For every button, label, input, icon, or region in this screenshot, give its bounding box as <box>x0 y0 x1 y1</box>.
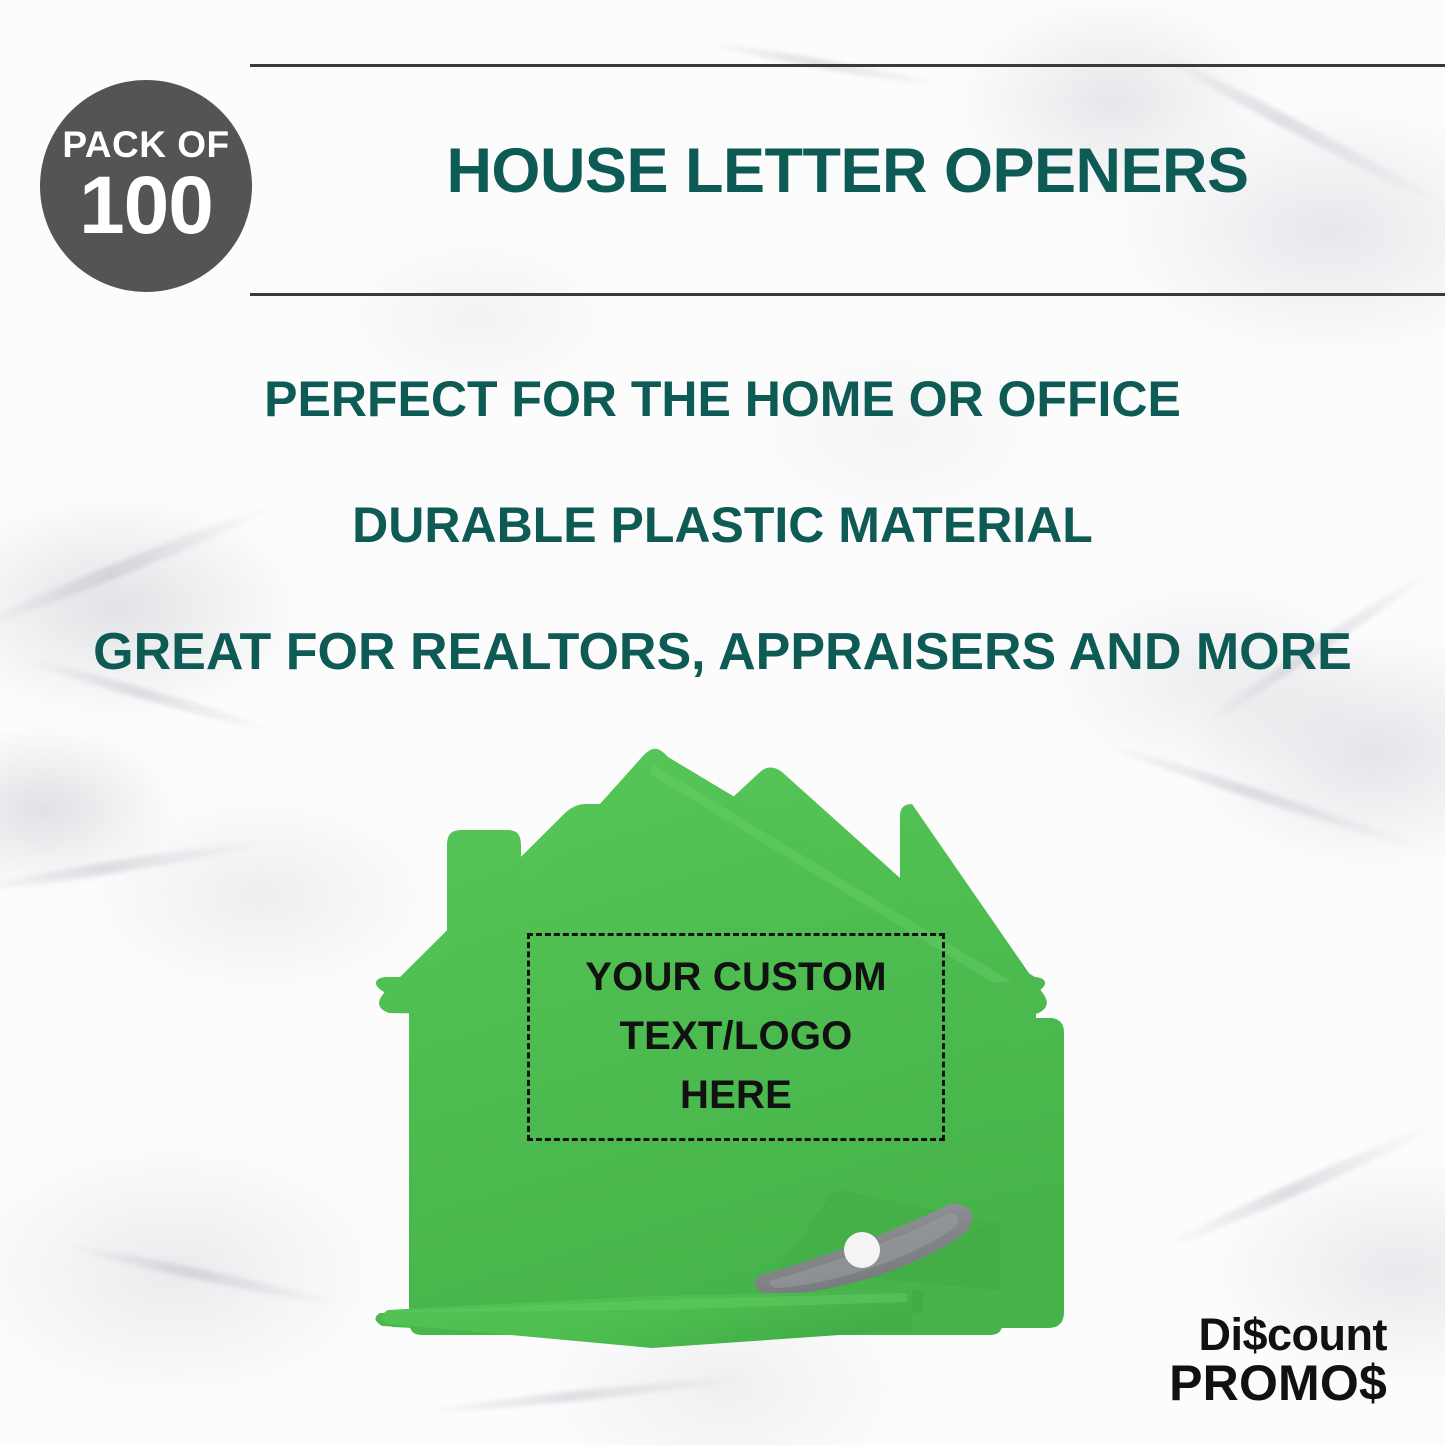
blade-rivet <box>844 1232 880 1268</box>
imprint-line-3: HERE <box>527 1066 945 1125</box>
imprint-line-2: TEXT/LOGO <box>527 1007 945 1066</box>
brand-logo: Di$count PROMO$ <box>1169 1312 1387 1409</box>
product-marketing-image: PACK OF 100 HOUSE LETTER OPENERS PERFECT… <box>0 0 1445 1445</box>
badge-quantity-value: 100 <box>79 165 213 247</box>
badge-pack-of-label: PACK OF <box>62 126 229 163</box>
title-divider-bottom <box>250 293 1445 296</box>
feature-line-2: DURABLE PLASTIC MATERIAL <box>0 500 1445 550</box>
feature-line-3: GREAT FOR REALTORS, APPRAISERS AND MORE <box>0 626 1445 678</box>
title-divider-top <box>250 64 1445 67</box>
pack-quantity-badge: PACK OF 100 <box>40 80 252 292</box>
brand-logo-line-2: PROMO$ <box>1169 1358 1387 1409</box>
page-title: HOUSE LETTER OPENERS <box>250 140 1445 203</box>
brand-logo-line-1: Di$count <box>1169 1312 1387 1358</box>
imprint-area-text: YOUR CUSTOM TEXT/LOGO HERE <box>527 948 945 1124</box>
feature-line-1: PERFECT FOR THE HOME OR OFFICE <box>0 374 1445 424</box>
imprint-line-1: YOUR CUSTOM <box>527 948 945 1007</box>
